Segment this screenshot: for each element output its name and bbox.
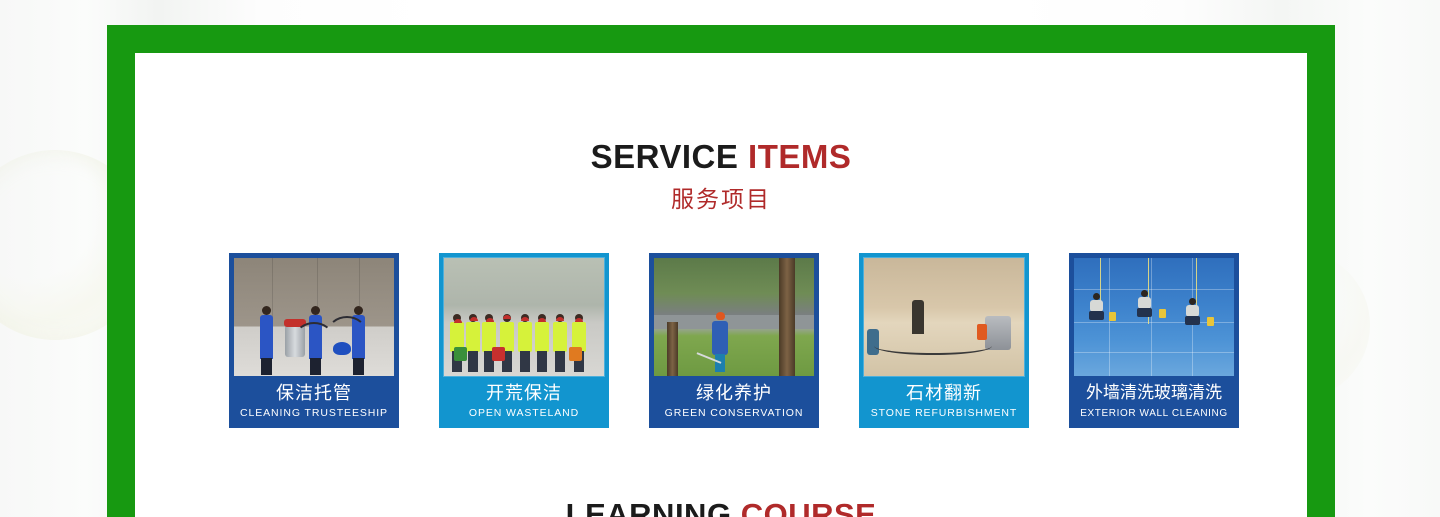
service-card-cleaning-trusteeship[interactable]: 保洁托管 CLEANING TRUSTEESHIP bbox=[229, 253, 399, 428]
service-card-image-green-conservation bbox=[654, 258, 814, 376]
content-panel: SERVICE ITEMS 服务项目 bbox=[135, 53, 1307, 517]
service-card-list: 保洁托管 CLEANING TRUSTEESHIP bbox=[229, 253, 1239, 428]
service-card-exterior-wall-cleaning[interactable]: 外墙清洗玻璃清洗 EXTERIOR WALL CLEANING bbox=[1069, 253, 1239, 428]
service-card-title-en: STONE REFURBISHMENT bbox=[864, 406, 1024, 428]
service-card-title-en: OPEN WASTELAND bbox=[444, 406, 604, 428]
course-title-en-part1: LEARNING bbox=[566, 497, 732, 517]
page-root: SERVICE ITEMS 服务项目 bbox=[0, 0, 1440, 517]
course-section-heading: LEARNING COURSE 学习课程 bbox=[135, 495, 1307, 517]
green-border-frame: SERVICE ITEMS 服务项目 bbox=[107, 25, 1335, 517]
service-card-title-cn: 保洁托管 bbox=[234, 376, 394, 406]
service-card-image-stone-refurbishment bbox=[864, 258, 1024, 376]
service-card-title-cn: 开荒保洁 bbox=[444, 376, 604, 406]
service-card-title-en: CLEANING TRUSTEESHIP bbox=[234, 406, 394, 428]
service-title-en-part1: SERVICE bbox=[591, 138, 739, 175]
service-card-title-cn: 外墙清洗玻璃清洗 bbox=[1074, 376, 1234, 406]
service-card-image-open-wasteland bbox=[444, 258, 604, 376]
service-card-open-wasteland[interactable]: 开荒保洁 OPEN WASTELAND bbox=[439, 253, 609, 428]
service-section-heading: SERVICE ITEMS 服务项目 bbox=[135, 137, 1307, 216]
service-card-stone-refurbishment[interactable]: 石材翻新 STONE REFURBISHMENT bbox=[859, 253, 1029, 428]
service-title-cn: 服务项目 bbox=[135, 182, 1307, 216]
service-card-title-en: EXTERIOR WALL CLEANING bbox=[1074, 406, 1234, 428]
service-title-en: SERVICE ITEMS bbox=[135, 137, 1307, 177]
service-card-title-cn: 绿化养护 bbox=[654, 376, 814, 406]
service-card-title-cn: 石材翻新 bbox=[864, 376, 1024, 406]
service-card-green-conservation[interactable]: 绿化养护 GREEN CONSERVATION bbox=[649, 253, 819, 428]
course-title-en: LEARNING COURSE bbox=[135, 495, 1307, 517]
service-card-image-cleaning-trusteeship bbox=[234, 258, 394, 376]
service-card-image-exterior-wall-cleaning bbox=[1074, 258, 1234, 376]
service-title-en-part2: ITEMS bbox=[748, 138, 851, 175]
service-card-title-en: GREEN CONSERVATION bbox=[654, 406, 814, 428]
course-title-en-part2: COURSE bbox=[741, 497, 877, 517]
